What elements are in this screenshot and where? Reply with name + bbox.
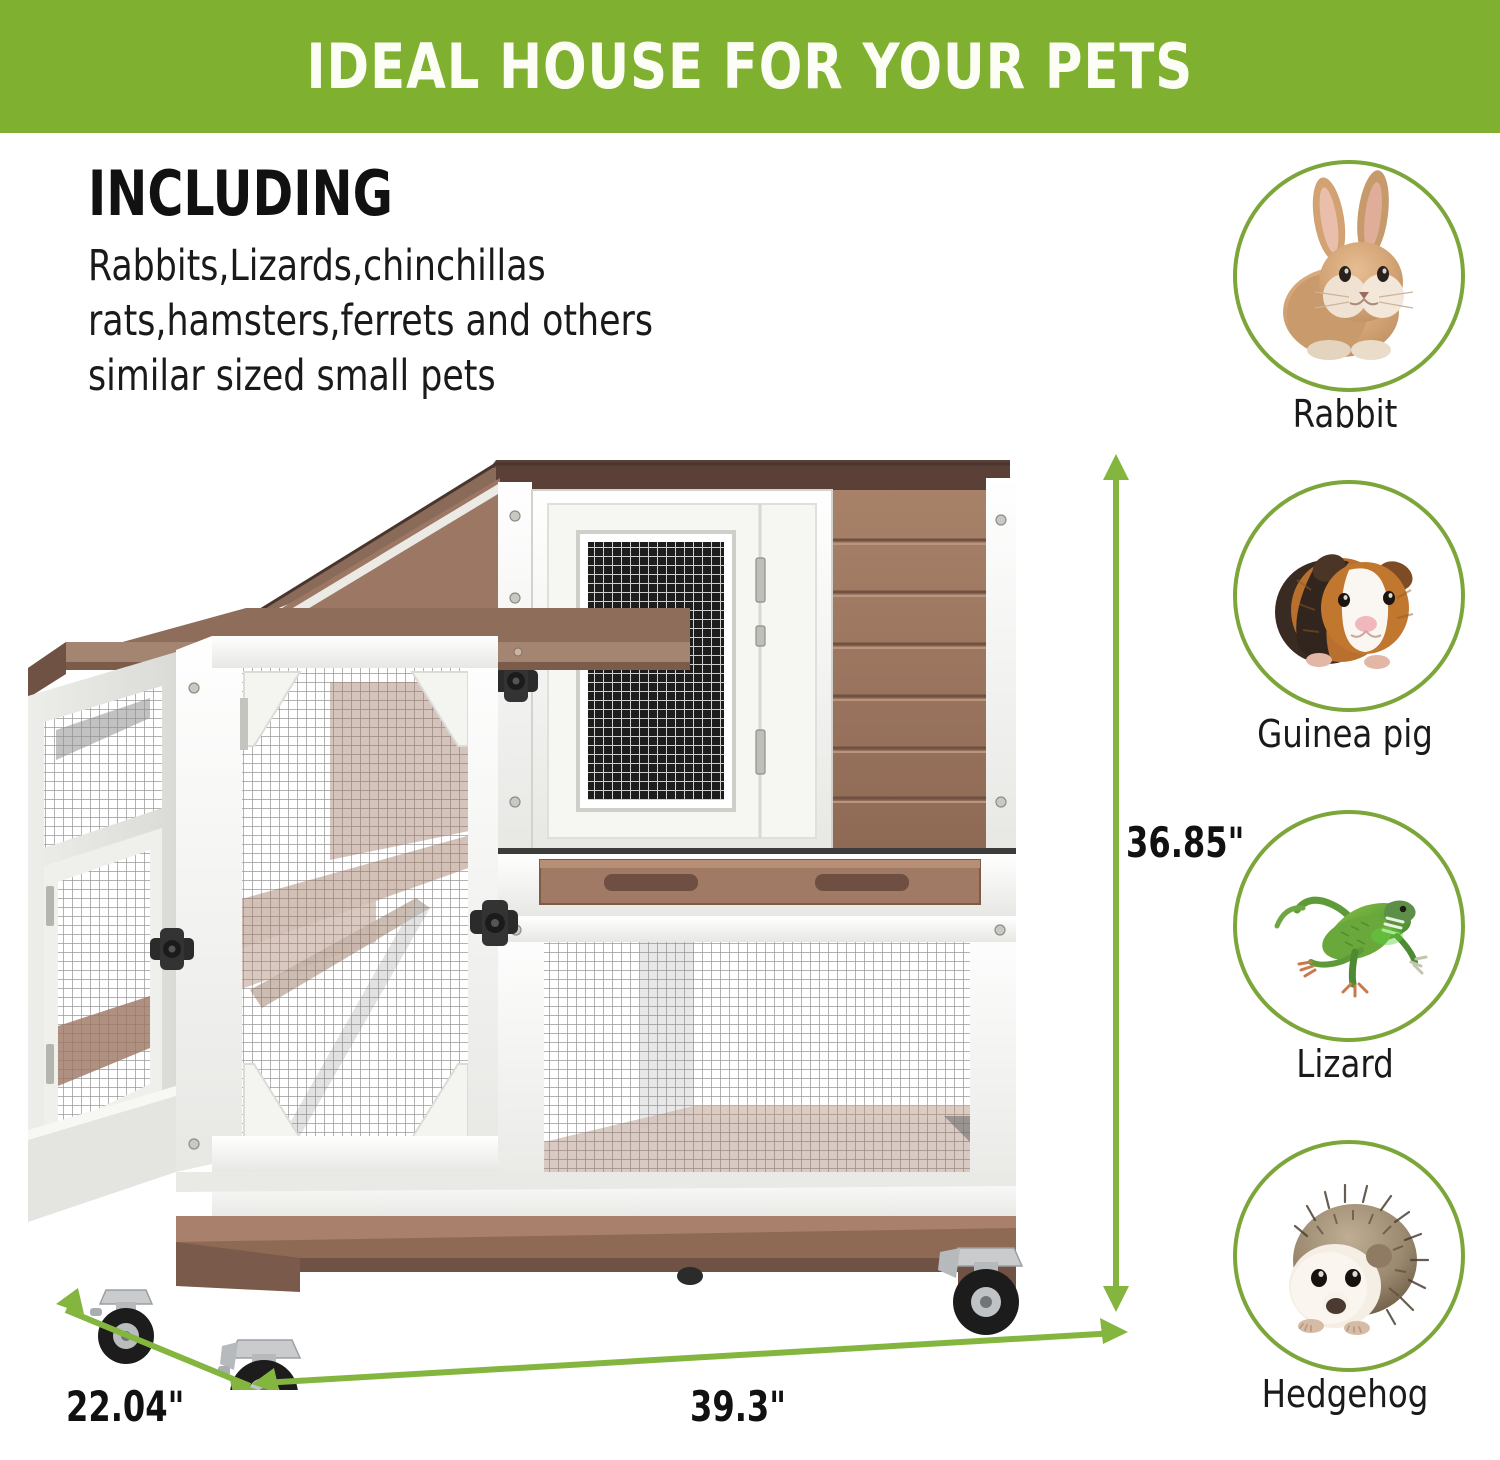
including-section: INCLUDING Rabbits,Lizards,chinchillas ra…	[88, 162, 808, 404]
upper-door	[532, 490, 832, 852]
pet-circle-lizard	[1233, 810, 1465, 1042]
including-line-2: rats,hamsters,ferrets and others	[88, 294, 736, 349]
pet-card-rabbit: Rabbit	[1200, 160, 1490, 480]
product-image	[0, 430, 1130, 1390]
pet-label-hedgehog: Hedgehog	[1207, 1372, 1483, 1416]
width-arrow-line	[262, 1333, 1116, 1383]
left-run-corner-post	[176, 636, 212, 1172]
hedgehog-icon	[1237, 1144, 1461, 1368]
pullout-tray	[540, 860, 980, 904]
rabbit-icon	[1237, 164, 1461, 388]
header-banner: IDEAL HOUSE FOR YOUR PETS	[0, 0, 1500, 133]
including-heading: INCLUDING	[88, 162, 722, 225]
guinea-pig-icon	[1237, 484, 1461, 708]
including-description: Rabbits,Lizards,chinchillas rats,hamster…	[88, 239, 736, 404]
including-line-1: Rabbits,Lizards,chinchillas	[88, 239, 736, 294]
upper-door-mesh	[588, 542, 724, 800]
dimension-width-label: 39.3"	[690, 1382, 786, 1431]
lower-right-run	[498, 916, 1016, 1214]
pet-circle-rabbit	[1233, 160, 1465, 392]
pet-label-guinea-pig: Guinea pig	[1207, 712, 1483, 756]
tray-handle-right	[815, 874, 909, 891]
pet-card-guinea-pig: Guinea pig	[1200, 480, 1490, 810]
including-line-3: similar sized small pets	[88, 349, 736, 404]
pet-label-rabbit: Rabbit	[1207, 392, 1483, 436]
tray-handle-left	[604, 874, 698, 891]
pet-card-hedgehog: Hedgehog	[1200, 1140, 1490, 1460]
house-wood-slats	[830, 490, 1010, 850]
rabbit-hutch-illustration	[0, 430, 1130, 1390]
dimension-height-label: 36.85"	[1126, 818, 1244, 867]
left-run-front-door	[212, 636, 498, 1172]
lizard-icon	[1237, 814, 1461, 1038]
center-foot	[677, 1267, 703, 1285]
left-run-side-panel	[28, 652, 176, 1222]
pet-circle-guinea-pig	[1233, 480, 1465, 712]
banner-title: IDEAL HOUSE FOR YOUR PETS	[307, 36, 1194, 98]
pet-label-lizard: Lizard	[1207, 1042, 1483, 1086]
caster-front-right	[938, 1248, 1022, 1335]
dimension-depth-label: 22.04"	[66, 1382, 184, 1431]
pet-circle-hedgehog	[1233, 1140, 1465, 1372]
pet-list: Rabbit	[1200, 160, 1490, 1460]
